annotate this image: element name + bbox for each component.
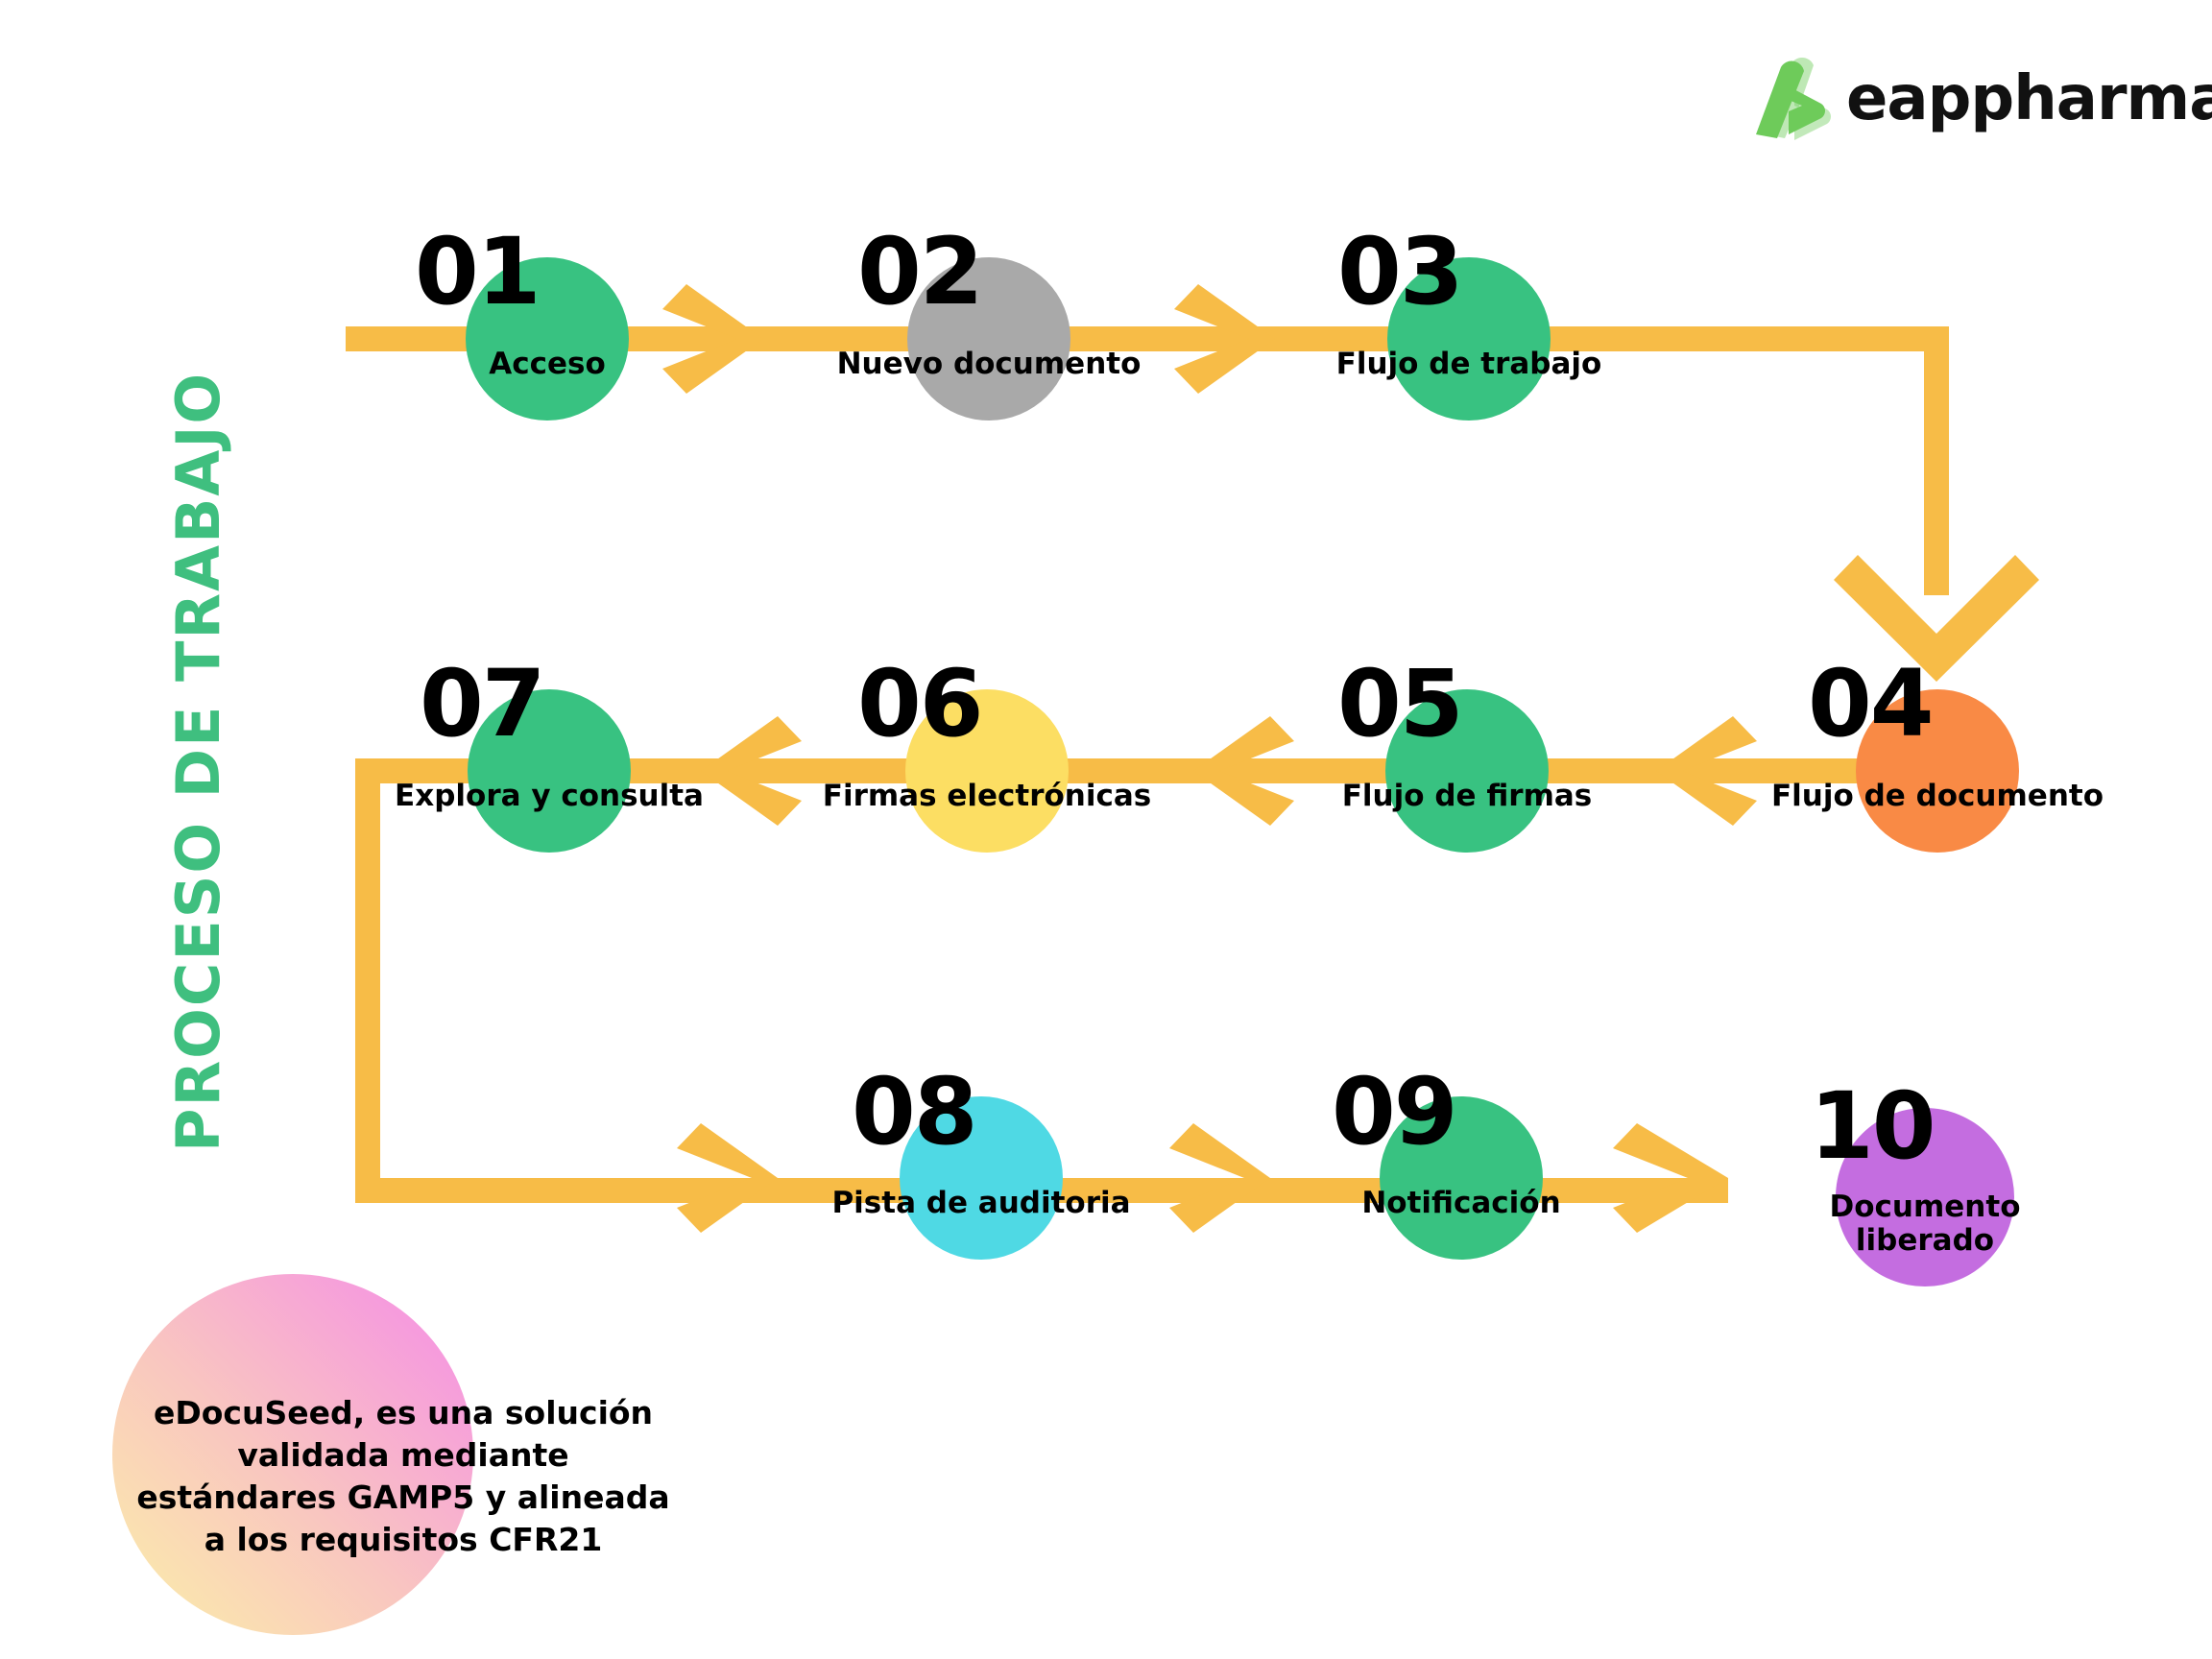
step-number-09: 09 xyxy=(1332,1066,1456,1158)
step-label-01: Acceso xyxy=(489,348,606,381)
step-label-03: Flujo de trabajo xyxy=(1336,348,1602,381)
step-number-07: 07 xyxy=(420,658,544,750)
step-number-05: 05 xyxy=(1337,658,1462,750)
workflow-diagram: eappharma PROCESO DE TRABAJO 01 02 03 04… xyxy=(0,0,2212,1659)
step-label-04: Flujo de documento xyxy=(1771,780,2104,813)
step-number-01: 01 xyxy=(415,226,540,318)
brand-wordmark: eappharma xyxy=(1846,68,2212,130)
step-label-10: Documento liberado xyxy=(1767,1190,2083,1257)
step-number-10: 10 xyxy=(1810,1080,1935,1172)
callout-text: eDocuSeed, es una solución validada medi… xyxy=(134,1392,672,1561)
step-number-04: 04 xyxy=(1808,658,1933,750)
step-label-02: Nuevo documento xyxy=(837,348,1142,381)
step-label-08: Pista de auditoria xyxy=(831,1187,1130,1220)
step-label-09: Notificación xyxy=(1361,1187,1560,1220)
page-title: PROCESO DE TRABAJO xyxy=(163,372,233,1152)
step-number-02: 02 xyxy=(857,226,982,318)
brand-logo: eappharma xyxy=(1752,58,2212,140)
step-label-06: Firmas electrónicas xyxy=(823,780,1151,813)
step-number-06: 06 xyxy=(857,658,982,750)
step-label-07: Explora y consulta xyxy=(395,780,704,813)
step-number-08: 08 xyxy=(852,1066,976,1158)
step-label-05: Flujo de firmas xyxy=(1342,780,1593,813)
eappharma-chevron-mark xyxy=(1752,58,1840,140)
step-number-03: 03 xyxy=(1337,226,1462,318)
